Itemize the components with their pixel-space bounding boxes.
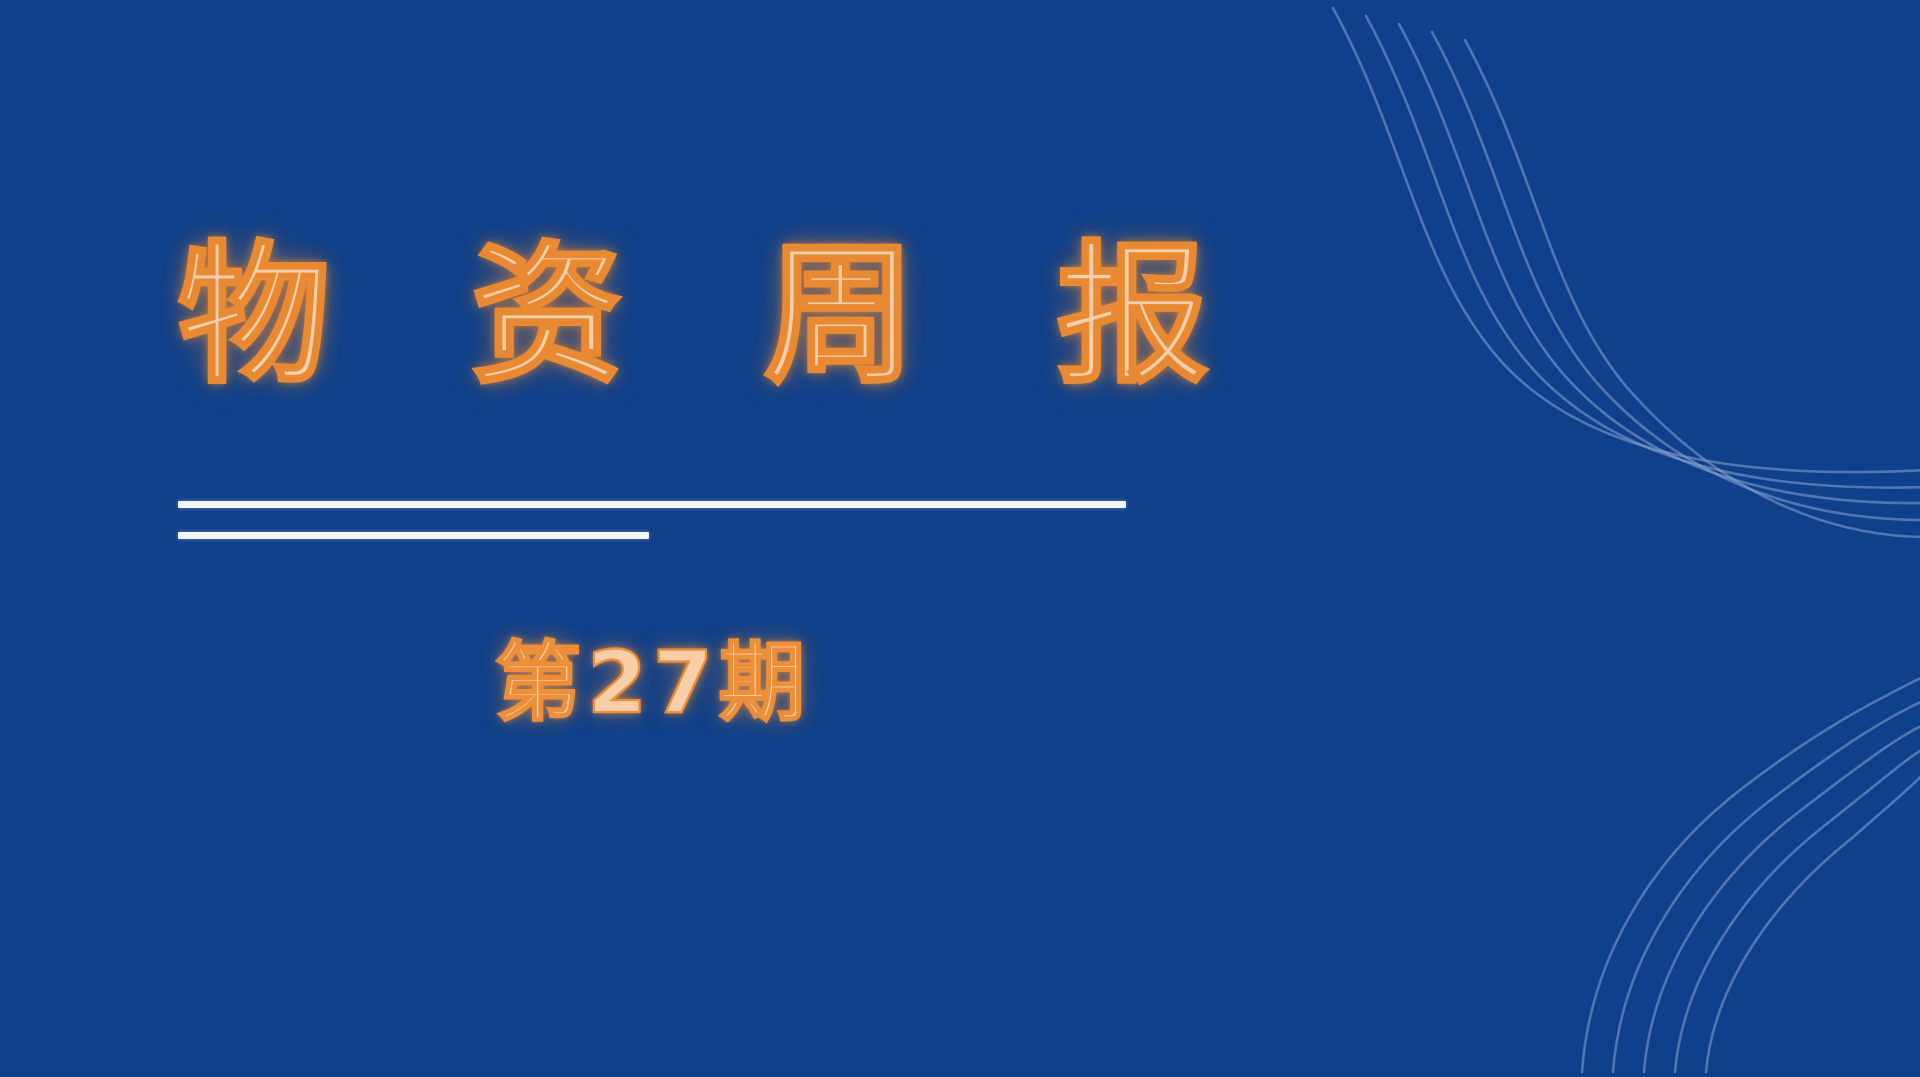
title-underline-short bbox=[178, 532, 649, 539]
top-right-wave-lines bbox=[1333, 8, 1920, 537]
title-underline-group bbox=[178, 501, 1178, 539]
issue-subtitle: 第27期 bbox=[495, 638, 811, 728]
bottom-right-wave-lines bbox=[1582, 676, 1920, 1072]
title-slide: 物 资 周 报 第27期 bbox=[0, 0, 1920, 1077]
subtitle-block: 第27期 bbox=[178, 638, 1128, 728]
page-title: 物 资 周 报 bbox=[178, 236, 1278, 396]
title-block: 物 资 周 报 bbox=[178, 236, 1278, 396]
title-underline-long bbox=[178, 501, 1126, 508]
